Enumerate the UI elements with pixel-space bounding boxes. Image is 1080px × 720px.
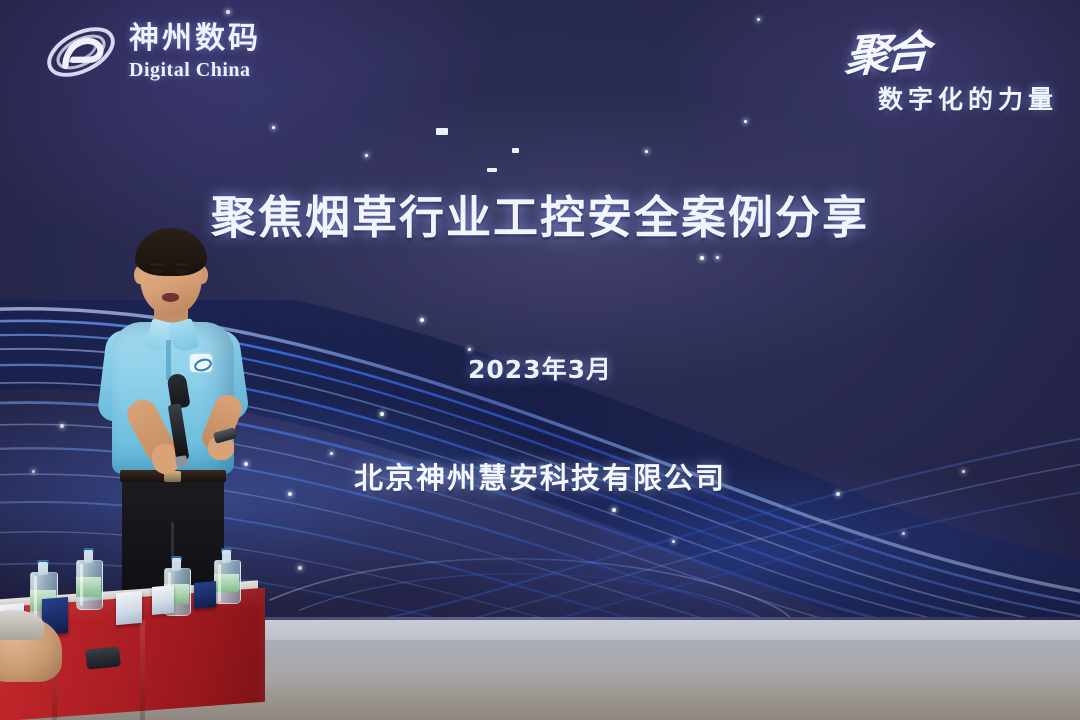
digital-china-logo: 神州数码 Digital China: [42, 16, 261, 88]
presenter-eyebrow-right: [176, 263, 189, 266]
presenter-mouth: [162, 293, 179, 302]
water-bottle: [214, 548, 239, 602]
presenter-hair: [135, 228, 207, 276]
conference-photo: 神州数码 Digital China 聚合 数字化的力量 聚焦烟草行业工控安全案…: [0, 0, 1080, 720]
presenter-shirt-placket: [166, 340, 171, 380]
name-card: [152, 585, 174, 615]
water-bottle: [76, 548, 101, 608]
name-card: [194, 581, 216, 609]
presenter-eye-left: [153, 269, 163, 273]
microphone-tip-icon: [175, 455, 187, 467]
event-logo: 聚合 数字化的力量: [808, 14, 1058, 118]
event-tagline: 数字化的力量: [814, 80, 1058, 116]
event-calligraphy: 聚合: [843, 11, 989, 87]
tablecloth-fold: [140, 620, 145, 720]
presenter-chest-logo-icon: [190, 354, 212, 372]
presenter-eye-right: [177, 269, 187, 273]
brand-name-cn: 神州数码: [129, 24, 261, 54]
digital-china-swirl-logo-icon: [42, 16, 120, 88]
table-microphone: [85, 646, 121, 669]
brand-name-en: Digital China: [129, 60, 261, 80]
name-card: [116, 591, 142, 625]
presenter-eyebrow-left: [151, 263, 164, 266]
